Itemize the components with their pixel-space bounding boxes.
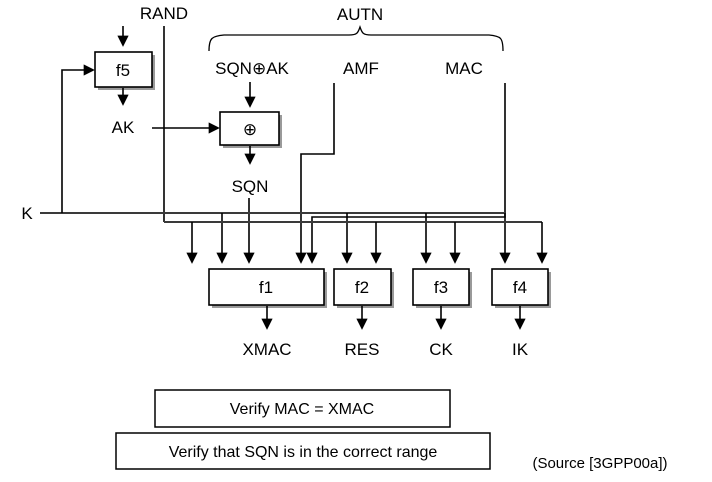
mac-to-f1-wire	[312, 83, 505, 262]
mac-label: MAC	[445, 59, 483, 78]
f1-group: f1 XMAC	[209, 269, 327, 359]
sqn-label: SQN	[232, 177, 269, 196]
f4-group: f4 IK	[492, 269, 551, 359]
autn-brace-group: AUTN	[209, 5, 503, 51]
rand-distribution-group	[164, 222, 542, 262]
verify-mac-group: Verify MAC = XMAC	[155, 390, 450, 427]
f4-label: f4	[513, 278, 527, 297]
f3-label: f3	[434, 278, 448, 297]
autn-brace	[209, 27, 503, 51]
verify-mac-label: Verify MAC = XMAC	[230, 401, 374, 418]
ak-label: AK	[112, 118, 135, 137]
xmac-label: XMAC	[242, 340, 291, 359]
f3-group: f3 CK	[413, 269, 472, 359]
f5-group: f5	[95, 52, 155, 104]
res-label: RES	[345, 340, 380, 359]
f1-label: f1	[259, 278, 273, 297]
k-to-f5-wire	[62, 70, 93, 213]
xor-group: ⊕	[220, 112, 282, 163]
verify-sqn-group: Verify that SQN is in the correct range	[116, 433, 490, 469]
amf-to-f1-wire	[301, 83, 334, 262]
k-bus-group	[40, 70, 505, 262]
verify-sqn-label: Verify that SQN is in the correct range	[169, 444, 438, 461]
f5-label: f5	[116, 61, 130, 80]
f2-label: f2	[355, 278, 369, 297]
ck-label: CK	[429, 340, 453, 359]
autn-group-label: AUTN	[337, 5, 383, 24]
authentication-flow-diagram: AUTN RAND SQN⊕AK AMF MAC f5 AK	[0, 0, 712, 482]
ik-label: IK	[512, 340, 529, 359]
diagram-canvas: AUTN RAND SQN⊕AK AMF MAC f5 AK	[0, 0, 712, 482]
f2-group: f2 RES	[334, 269, 394, 359]
xor-symbol: ⊕	[243, 120, 257, 139]
rand-label: RAND	[140, 4, 188, 23]
source-citation: (Source [3GPP00a])	[532, 455, 667, 472]
amf-label: AMF	[343, 59, 379, 78]
sqn-xor-ak-label: SQN⊕AK	[215, 59, 289, 78]
k-label: K	[21, 204, 33, 223]
